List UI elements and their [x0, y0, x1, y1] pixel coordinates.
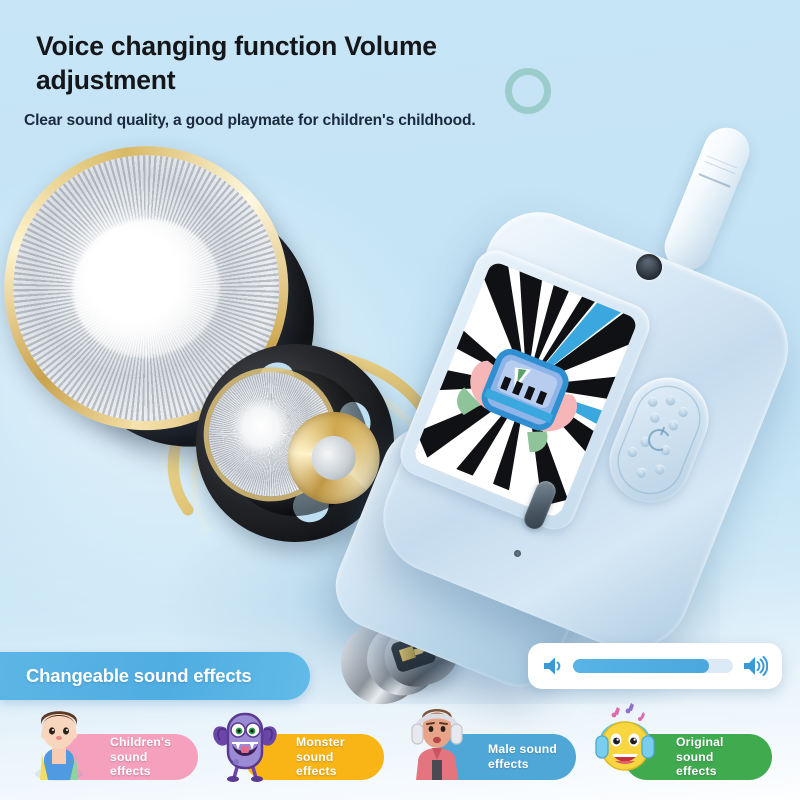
page-title: Voice changing function Volume adjustmen…	[36, 30, 506, 98]
changeable-sound-effects-banner: Changeable sound effects	[0, 652, 310, 700]
banner-label: Changeable sound effects	[0, 665, 251, 687]
sound-effect-item-original[interactable]: Original sound effects	[588, 734, 774, 780]
boy-avatar-icon	[22, 702, 96, 782]
product-promo-image: Voice changing function Volume adjustmen…	[0, 0, 800, 800]
grille-dot	[654, 463, 667, 476]
smiley-headphones-avatar-icon	[588, 702, 662, 782]
grille-dot	[648, 411, 661, 424]
volume-low-icon	[542, 656, 564, 676]
volume-fill	[573, 659, 709, 673]
teal-ring-icon	[505, 68, 551, 114]
volume-track[interactable]	[573, 659, 733, 673]
grille-dot	[664, 394, 677, 407]
volume-slider[interactable]	[528, 643, 782, 689]
grille-dot	[667, 419, 680, 432]
man-headphones-avatar-icon	[400, 702, 474, 782]
grille-dot	[646, 395, 659, 408]
sound-effect-label: Monster sound effects	[296, 735, 366, 780]
antenna	[658, 121, 757, 277]
volume-high-icon	[742, 655, 768, 677]
monster-avatar-icon	[208, 702, 282, 782]
walkie-talkie-device	[318, 118, 800, 678]
sound-effect-item-male[interactable]: Male sound effects	[400, 734, 576, 780]
sound-effect-label: Children's sound effects	[110, 735, 180, 780]
microphone-hole	[514, 550, 521, 557]
grille-dot	[677, 406, 690, 419]
sound-effect-label: Original sound effects	[676, 735, 754, 780]
sound-effects-row: Children's sound effects	[0, 702, 800, 800]
sound-effect-item-monster[interactable]: Monster sound effects	[208, 734, 384, 780]
sound-effect-label: Male sound effects	[488, 742, 557, 772]
grille-dot	[635, 466, 648, 479]
sound-effect-item-children[interactable]: Children's sound effects	[22, 734, 198, 780]
grille-dot	[626, 445, 639, 458]
